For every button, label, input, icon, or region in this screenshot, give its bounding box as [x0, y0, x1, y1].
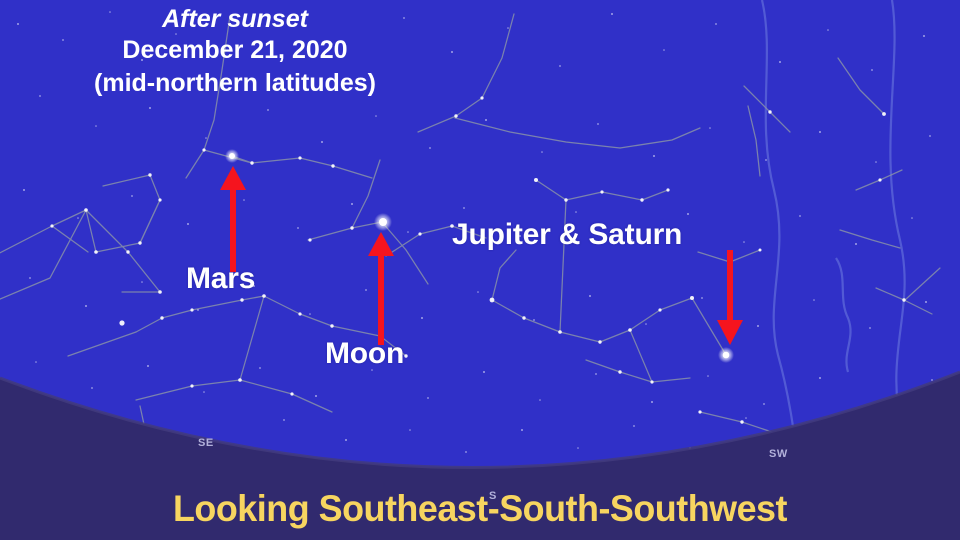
label-mars: Mars — [186, 262, 255, 296]
sky-chart-image: After sunset December 21, 2020 (mid-nort… — [0, 0, 960, 540]
label-jupiter-saturn: Jupiter & Saturn — [452, 218, 682, 252]
label-moon: Moon — [325, 337, 404, 371]
moon-star-dot — [379, 218, 387, 226]
mars-star-dot — [229, 153, 235, 159]
jupiter-saturn-star-dot — [723, 352, 730, 359]
compass-label-southeast: SE — [198, 437, 214, 449]
compass-label-southwest: SW — [769, 448, 788, 460]
footer-caption: Looking Southeast-South-Southwest — [14, 488, 945, 530]
star-map-canvas — [0, 0, 960, 540]
